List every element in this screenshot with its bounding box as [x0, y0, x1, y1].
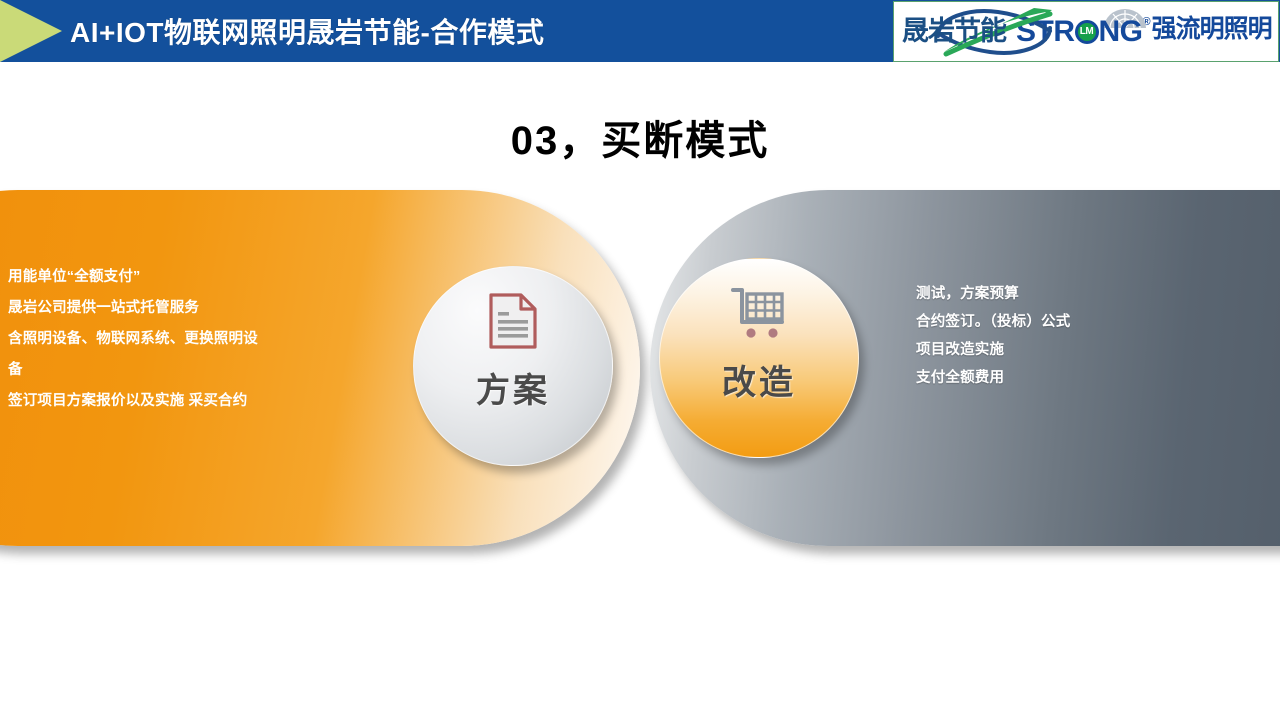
- slide-canvas: AI+IOT物联网照明晟岩节能-合作模式 晟岩节能 STRLMNG ®: [0, 0, 1280, 720]
- logo-brand-str: STR: [1016, 15, 1075, 48]
- header-title: AI+IOT物联网照明晟岩节能-合作模式: [70, 0, 544, 62]
- panel-right-line: 项目改造实施: [916, 336, 1246, 364]
- logo-brand-ng: NG: [1099, 15, 1143, 48]
- panel-left-line: 签订项目方案报价以及实施 采买合约: [8, 386, 358, 417]
- document-icon: [488, 293, 538, 349]
- logo-brand-text: STRLMNG: [1016, 17, 1143, 47]
- panel-left-clip: 用能单位“全额支付” 晟岩公司提供一站式托管服务 含照明设备、物联网系统、更换照…: [0, 190, 480, 546]
- panel-left-text-block: 用能单位“全额支付” 晟岩公司提供一站式托管服务 含照明设备、物联网系统、更换照…: [8, 262, 358, 417]
- page-title: 03，买断模式: [0, 108, 1280, 166]
- circle-retrofit[interactable]: 改造: [659, 258, 859, 458]
- panel-right-line: 合约签订。（投标）公式: [916, 308, 1246, 336]
- circle-plan[interactable]: 方案: [413, 266, 613, 466]
- panel-right-text-block: 测试，方案预算 合约签订。（投标）公式 项目改造实施 支付全额费用: [916, 280, 1246, 392]
- logo-chinese-name: 晟岩节能: [902, 18, 1006, 45]
- shopping-cart-icon: [730, 285, 788, 341]
- logo-brand-wrap: STRLMNG ® 强流明照明: [1016, 17, 1272, 47]
- logo-chinese-wrap: 晟岩节能: [902, 2, 1006, 61]
- company-logo: 晟岩节能 STRLMNG ® 强流明照明: [893, 1, 1279, 62]
- logo-brand-chinese: 强流明照明: [1152, 17, 1272, 42]
- circle-retrofit-label: 改造: [722, 355, 796, 404]
- circle-plan-label: 方案: [476, 363, 550, 412]
- panel-left-line: 晟岩公司提供一站式托管服务: [8, 293, 358, 324]
- logo-o-badge: LM: [1075, 20, 1099, 44]
- triangle-right-icon: [0, 0, 62, 62]
- panel-right-line: 支付全额费用: [916, 364, 1246, 392]
- panel-left-line: 备: [8, 355, 358, 386]
- panel-left-line: 含照明设备、物联网系统、更换照明设: [8, 324, 358, 355]
- logo-o-inner-label: LM: [1078, 23, 1096, 41]
- panel-left-line: 用能单位“全额支付”: [8, 262, 358, 293]
- panel-right-line: 测试，方案预算: [916, 280, 1246, 308]
